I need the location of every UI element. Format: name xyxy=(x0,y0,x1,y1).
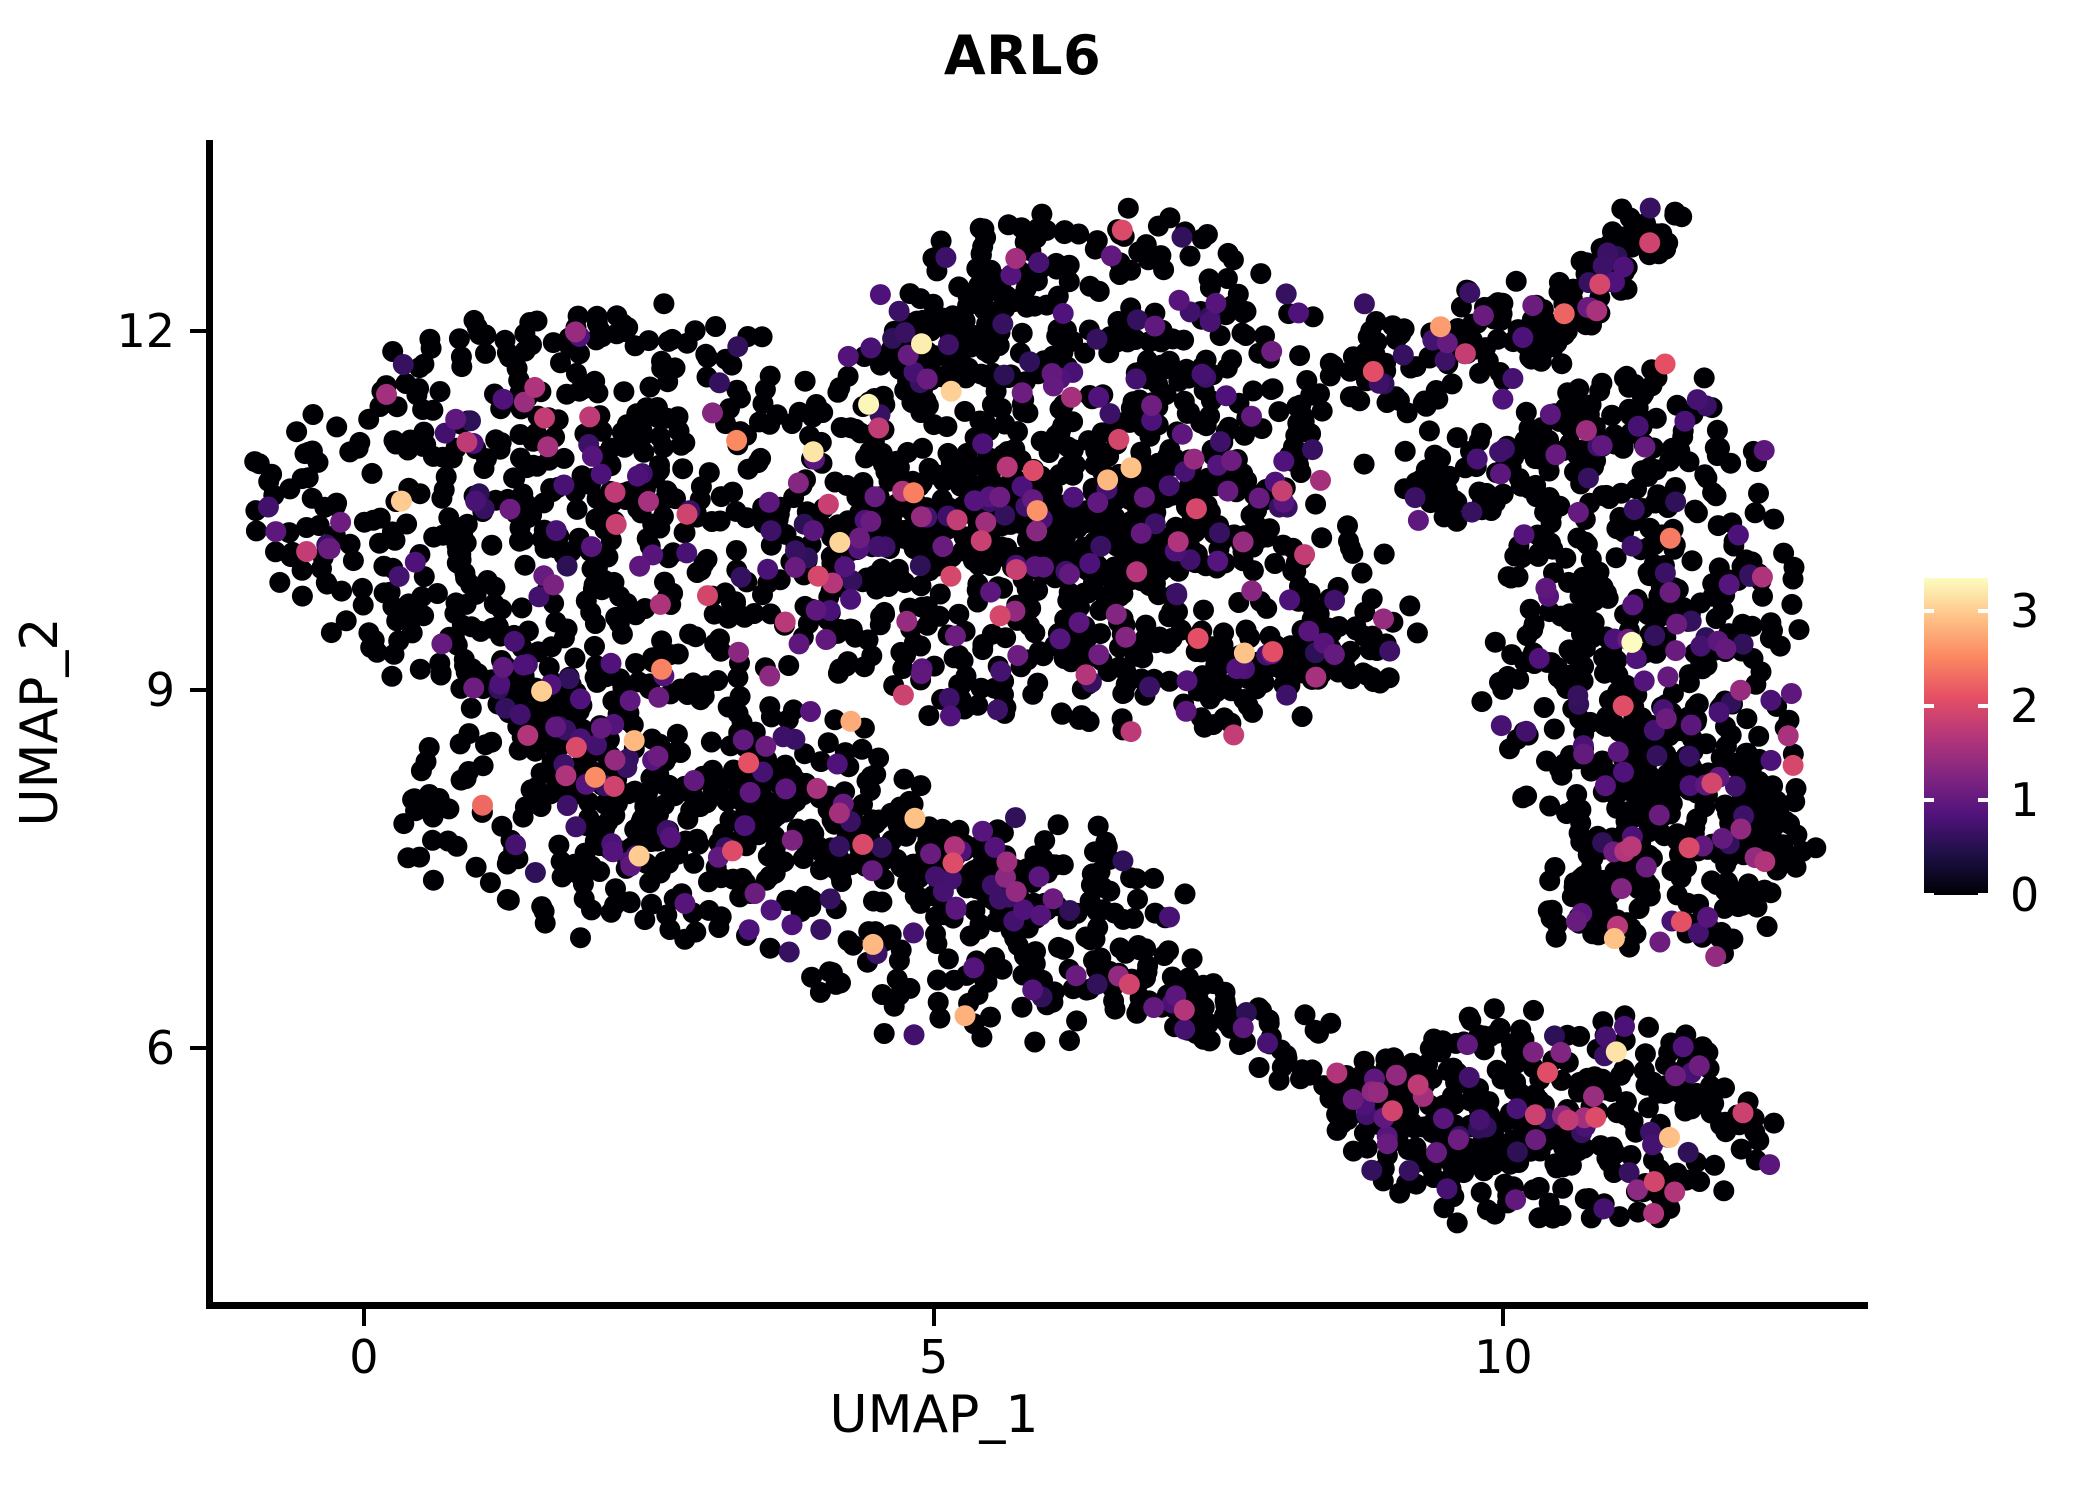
scatter-point xyxy=(1536,751,1557,772)
scatter-point xyxy=(1106,604,1127,625)
scatter-point xyxy=(759,414,780,435)
y-axis-label: UMAP_2 xyxy=(10,322,70,1122)
scatter-point xyxy=(302,441,323,462)
scatter-point xyxy=(1209,522,1230,543)
scatter-point xyxy=(1491,310,1512,331)
scatter-point xyxy=(504,631,525,652)
scatter-point xyxy=(565,816,586,837)
scatter-point xyxy=(422,400,443,421)
scatter-point xyxy=(1525,1104,1546,1125)
scatter-point xyxy=(1259,518,1280,539)
scatter-point xyxy=(1398,1139,1419,1160)
scatter-point xyxy=(775,612,796,633)
scatter-point xyxy=(896,611,917,632)
scatter-point xyxy=(1343,1089,1364,1110)
scatter-point xyxy=(1234,425,1255,446)
scatter-point xyxy=(1118,198,1139,219)
scatter-point xyxy=(840,589,861,610)
scatter-point xyxy=(1063,439,1084,460)
scatter-point xyxy=(1754,851,1775,872)
scatter-point xyxy=(348,438,369,459)
scatter-point xyxy=(1624,374,1645,395)
scatter-point xyxy=(1644,625,1665,646)
scatter-point xyxy=(1024,622,1045,643)
scatter-point xyxy=(858,394,879,415)
scatter-point xyxy=(920,843,941,864)
scatter-point xyxy=(947,509,968,530)
scatter-point xyxy=(1779,813,1800,834)
scatter-point xyxy=(1613,695,1634,716)
scatter-point xyxy=(1243,560,1264,581)
scatter-point xyxy=(936,416,957,437)
scatter-point xyxy=(463,678,484,699)
scatter-point xyxy=(1352,563,1373,584)
scatter-point xyxy=(534,408,555,429)
scatter-point xyxy=(1289,345,1310,366)
scatter-point xyxy=(1186,498,1207,519)
scatter-point xyxy=(556,384,577,405)
scatter-point xyxy=(1193,600,1214,621)
scatter-point xyxy=(1175,883,1196,904)
scatter-point xyxy=(705,316,726,337)
scatter-point xyxy=(1107,329,1128,350)
scatter-point xyxy=(1626,478,1647,499)
scatter-point xyxy=(970,218,991,239)
scatter-point xyxy=(481,732,502,753)
scatter-point xyxy=(687,829,708,850)
scatter-point xyxy=(1622,594,1643,615)
scatter-point xyxy=(1628,416,1649,437)
scatter-point xyxy=(1534,697,1555,718)
scatter-point xyxy=(1180,246,1201,267)
scatter-point xyxy=(935,247,956,268)
scatter-point xyxy=(849,528,870,549)
scatter-point xyxy=(1194,717,1215,738)
scatter-point xyxy=(1665,491,1686,512)
colorbar-tick-mark xyxy=(1978,609,1988,613)
scatter-point xyxy=(1192,364,1213,385)
scatter-point xyxy=(1571,251,1592,272)
scatter-point xyxy=(1215,995,1236,1016)
colorbar: 0123 xyxy=(1924,578,2094,898)
scatter-point xyxy=(1659,1127,1680,1148)
scatter-point xyxy=(1139,677,1160,698)
scatter-point xyxy=(1554,753,1575,774)
scatter-point xyxy=(750,448,771,469)
scatter-point xyxy=(918,705,939,726)
scatter-point xyxy=(1686,808,1707,829)
scatter-point xyxy=(1148,584,1169,605)
colorbar-tick-mark xyxy=(1924,609,1934,613)
scatter-point xyxy=(1544,719,1565,740)
scatter-point xyxy=(601,902,622,923)
scatter-point xyxy=(1572,830,1593,851)
scatter-point xyxy=(701,732,722,753)
scatter-point xyxy=(668,406,689,427)
scatter-point xyxy=(1483,1154,1504,1175)
scatter-point xyxy=(1562,402,1583,423)
scatter-point xyxy=(1535,578,1556,599)
scatter-point xyxy=(1399,595,1420,616)
scatter-point xyxy=(927,970,948,991)
scatter-point xyxy=(1324,590,1345,611)
scatter-point xyxy=(1469,1109,1490,1130)
scatter-point xyxy=(565,321,586,342)
scatter-point xyxy=(1665,640,1686,661)
scatter-point xyxy=(1489,441,1510,462)
scatter-point xyxy=(1655,563,1676,584)
scatter-point xyxy=(1540,404,1561,425)
scatter-point xyxy=(1682,550,1703,571)
scatter-point xyxy=(509,531,530,552)
scatter-point xyxy=(1108,429,1129,450)
scatter-point xyxy=(1235,325,1256,346)
scatter-point xyxy=(1159,907,1180,928)
scatter-point xyxy=(605,750,626,771)
scatter-point xyxy=(367,642,388,663)
scatter-point xyxy=(971,244,992,265)
scatter-point xyxy=(1581,394,1602,415)
scatter-point xyxy=(1634,670,1655,691)
scatter-point xyxy=(779,942,800,963)
scatter-point xyxy=(1205,293,1226,314)
scatter-point xyxy=(1732,614,1753,635)
scatter-point xyxy=(1730,680,1751,701)
scatter-point xyxy=(1197,224,1218,245)
scatter-point xyxy=(923,294,944,315)
scatter-point xyxy=(602,841,623,862)
scatter-point xyxy=(557,556,578,577)
scatter-point xyxy=(1701,773,1722,794)
scatter-point xyxy=(1784,557,1805,578)
scatter-point xyxy=(620,690,641,711)
scatter-point xyxy=(1649,932,1670,953)
scatter-point xyxy=(1268,401,1289,422)
scatter-point xyxy=(481,535,502,556)
scatter-point xyxy=(1689,1055,1710,1076)
scatter-point xyxy=(1367,1082,1388,1103)
scatter-point xyxy=(945,626,966,647)
scatter-point xyxy=(874,1023,895,1044)
scatter-point xyxy=(733,729,754,750)
scatter-point xyxy=(806,600,827,621)
scatter-point xyxy=(382,596,403,617)
scatter-point xyxy=(1646,745,1667,766)
scatter-point xyxy=(1639,518,1660,539)
scatter-point xyxy=(740,782,761,803)
scatter-point xyxy=(727,667,748,688)
scatter-point xyxy=(702,402,723,423)
scatter-point xyxy=(938,334,959,355)
scatter-point xyxy=(1026,521,1047,542)
scatter-point xyxy=(1276,283,1297,304)
scatter-point xyxy=(340,534,361,555)
scatter-point xyxy=(1568,502,1589,523)
scatter-point xyxy=(1172,424,1193,445)
scatter-point xyxy=(1434,1197,1455,1218)
scatter-point xyxy=(559,668,580,689)
scatter-point xyxy=(1430,316,1451,337)
scatter-point xyxy=(642,514,663,535)
scatter-point xyxy=(625,604,646,625)
scatter-point xyxy=(606,514,627,535)
scatter-point xyxy=(1480,1026,1501,1047)
scatter-point xyxy=(1702,482,1723,503)
scatter-point xyxy=(893,685,914,706)
scatter-point xyxy=(1624,499,1645,520)
scatter-point xyxy=(653,293,674,314)
scatter-point xyxy=(1728,525,1749,546)
scatter-point xyxy=(1694,367,1715,388)
scatter-point xyxy=(803,441,824,462)
scatter-point xyxy=(627,466,648,487)
scatter-point xyxy=(803,823,824,844)
scatter-point xyxy=(1045,526,1066,547)
scatter-point xyxy=(510,704,531,725)
scatter-point xyxy=(1721,725,1742,746)
scatter-point xyxy=(1337,515,1358,536)
scatter-point xyxy=(862,860,883,881)
scatter-point xyxy=(1144,316,1165,337)
scatter-point xyxy=(1190,412,1211,433)
scatter-point xyxy=(461,658,482,679)
scatter-point xyxy=(605,607,626,628)
scatter-point xyxy=(1354,1123,1375,1144)
scatter-point xyxy=(1697,907,1718,928)
scatter-point xyxy=(727,336,748,357)
scatter-point xyxy=(1121,457,1142,478)
scatter-point xyxy=(385,530,406,551)
scatter-point xyxy=(1644,1171,1665,1192)
scatter-point xyxy=(423,527,444,548)
scatter-point xyxy=(555,765,576,786)
scatter-point xyxy=(381,666,402,687)
scatter-point xyxy=(906,884,927,905)
scatter-point xyxy=(1621,632,1642,653)
scatter-point xyxy=(470,621,491,642)
scatter-point xyxy=(296,541,317,562)
scatter-point xyxy=(1126,368,1147,389)
scatter-point xyxy=(674,893,695,914)
scatter-point xyxy=(753,393,774,414)
scatter-point xyxy=(785,557,806,578)
scatter-point xyxy=(975,512,996,533)
scatter-point xyxy=(591,464,612,485)
scatter-point xyxy=(971,530,992,551)
scatter-point xyxy=(1638,1017,1659,1038)
scatter-point xyxy=(1514,524,1535,545)
scatter-point xyxy=(1395,441,1416,462)
scatter-point xyxy=(1491,715,1512,736)
scatter-point xyxy=(1141,395,1162,416)
scatter-point xyxy=(626,403,647,424)
scatter-point xyxy=(515,797,536,818)
scatter-point xyxy=(1310,470,1331,491)
scatter-point xyxy=(449,328,470,349)
scatter-point xyxy=(1126,561,1147,582)
scatter-point xyxy=(989,282,1010,303)
scatter-point xyxy=(1028,252,1049,273)
scatter-point xyxy=(1017,402,1038,423)
scatter-point xyxy=(969,919,990,940)
scatter-point xyxy=(1566,784,1587,805)
scatter-point xyxy=(1596,716,1617,737)
scatter-point xyxy=(624,781,645,802)
scatter-point xyxy=(1657,666,1678,687)
scatter-point xyxy=(1701,870,1722,891)
scatter-point xyxy=(1459,282,1480,303)
scatter-point xyxy=(1085,929,1106,950)
scatter-point xyxy=(1763,1113,1784,1134)
scatter-point xyxy=(1646,459,1667,480)
scatter-point xyxy=(534,901,555,922)
scatter-point xyxy=(1684,500,1705,521)
scatter-point xyxy=(1439,466,1460,487)
scatter-point xyxy=(1377,392,1398,413)
colorbar-tick-label: 1 xyxy=(2010,773,2039,827)
scatter-point xyxy=(860,337,881,358)
scatter-point xyxy=(868,536,889,557)
scatter-point xyxy=(1789,619,1810,640)
scatter-point xyxy=(734,815,755,836)
scatter-point xyxy=(500,499,521,520)
scatter-point xyxy=(679,624,700,645)
scatter-point xyxy=(1346,619,1367,640)
scatter-point xyxy=(1548,667,1569,688)
scatter-point xyxy=(903,482,924,503)
scatter-point xyxy=(1399,1160,1420,1181)
scatter-point xyxy=(874,602,895,623)
scatter-point xyxy=(818,494,839,515)
scatter-point xyxy=(676,542,697,563)
scatter-point xyxy=(1407,622,1428,643)
scatter-point xyxy=(1121,721,1142,742)
scatter-point xyxy=(1023,460,1044,481)
scatter-point xyxy=(1216,385,1237,406)
scatter-point xyxy=(829,803,850,824)
scatter-point xyxy=(477,570,498,591)
scatter-point xyxy=(604,805,625,826)
scatter-point xyxy=(402,622,423,643)
scatter-point xyxy=(1461,502,1482,523)
x-tick-label: 10 xyxy=(1433,1330,1573,1384)
scatter-point xyxy=(292,468,313,489)
scatter-point xyxy=(605,482,626,503)
scatter-point xyxy=(955,1005,976,1026)
scatter-point xyxy=(812,402,833,423)
scatter-point xyxy=(994,365,1015,386)
scatter-point xyxy=(1172,227,1193,248)
colorbar-tick-mark xyxy=(1924,798,1934,802)
scatter-point xyxy=(1373,608,1394,629)
scatter-point xyxy=(605,878,626,899)
scatter-point xyxy=(581,377,602,398)
scatter-point xyxy=(1611,878,1632,899)
scatter-point xyxy=(1128,935,1149,956)
scatter-point xyxy=(759,666,780,687)
scatter-point xyxy=(1592,435,1613,456)
scatter-point xyxy=(326,493,347,514)
scatter-point xyxy=(1666,614,1687,635)
scatter-point xyxy=(303,404,324,425)
scatter-point xyxy=(1457,1034,1478,1055)
scatter-point xyxy=(1249,1057,1270,1078)
scatter-point xyxy=(1326,1063,1347,1084)
scatter-point xyxy=(362,463,383,484)
scatter-point xyxy=(845,627,866,648)
scatter-point xyxy=(546,520,567,541)
scatter-point xyxy=(755,736,776,757)
colorbar-tick-mark xyxy=(1978,798,1988,802)
scatter-point xyxy=(1549,272,1570,293)
scatter-point xyxy=(1360,320,1381,341)
scatter-point xyxy=(292,586,313,607)
scatter-point xyxy=(1537,1062,1558,1083)
scatter-point xyxy=(1586,300,1607,321)
scatter-point xyxy=(624,819,645,840)
scatter-point xyxy=(731,567,752,588)
scatter-point xyxy=(1433,1108,1454,1129)
scatter-point xyxy=(1639,232,1660,253)
scatter-point xyxy=(782,914,803,935)
scatter-point xyxy=(761,706,782,727)
scatter-point xyxy=(989,487,1010,508)
scatter-point xyxy=(385,434,406,455)
scatter-point xyxy=(1069,612,1090,633)
scatter-point xyxy=(840,711,861,732)
scatter-point xyxy=(1127,889,1148,910)
scatter-point xyxy=(1706,608,1727,629)
scatter-point xyxy=(827,754,848,775)
scatter-point xyxy=(1305,667,1326,688)
scatter-point xyxy=(1199,1030,1220,1051)
scatter-point xyxy=(423,870,444,891)
scatter-point xyxy=(1516,786,1537,807)
scatter-point xyxy=(1484,998,1505,1019)
scatter-point xyxy=(570,927,591,948)
scatter-point xyxy=(1013,286,1034,307)
scatter-point xyxy=(1354,293,1375,314)
scatter-point xyxy=(480,872,501,893)
scatter-point xyxy=(1709,702,1730,723)
scatter-point xyxy=(865,486,886,507)
scatter-point xyxy=(726,540,747,561)
scatter-point xyxy=(1145,632,1166,653)
scatter-point xyxy=(1012,382,1033,403)
scatter-point xyxy=(722,840,743,861)
scatter-point xyxy=(1295,1004,1316,1025)
scatter-point xyxy=(971,678,992,699)
scatter-point xyxy=(668,644,689,665)
scatter-point xyxy=(410,659,431,680)
scatter-point xyxy=(395,373,416,394)
scatter-point xyxy=(1538,900,1559,921)
scatter-point xyxy=(1250,263,1271,284)
scatter-point xyxy=(1084,841,1105,862)
scatter-point xyxy=(1505,1189,1526,1210)
scatter-point xyxy=(1686,1083,1707,1104)
scatter-point xyxy=(581,536,602,557)
umap-feature-plot: ARL6 6912 0510 UMAP_1 UMAP_2 0123 xyxy=(0,0,2100,1500)
x-tick-label: 0 xyxy=(294,1330,434,1384)
scatter-point xyxy=(566,737,587,758)
x-tick-mark xyxy=(362,1309,366,1326)
scatter-point xyxy=(1448,1129,1469,1150)
scatter-point xyxy=(911,663,932,684)
scatter-point xyxy=(871,837,892,858)
scatter-point xyxy=(1763,509,1784,530)
scatter-point xyxy=(917,369,938,390)
